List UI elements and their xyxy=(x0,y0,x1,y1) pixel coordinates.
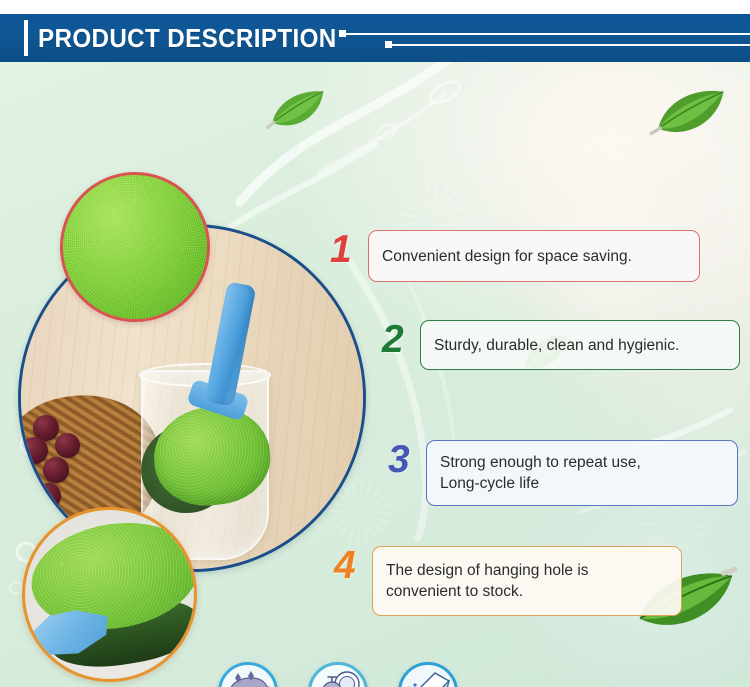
page-title: PRODUCT DESCRIPTION xyxy=(38,21,337,55)
feature-item-1: 1 Convenient design for space saving. xyxy=(330,230,700,282)
surface-scrubbing-icon[interactable] xyxy=(218,662,278,687)
green-fiber-surface xyxy=(63,175,207,319)
header-decor-line-2 xyxy=(392,44,750,46)
feature-item-2: 2 Sturdy, durable, clean and hygienic. xyxy=(382,320,740,370)
feature-number-1: 1 xyxy=(330,230,368,269)
feature-box-1[interactable]: Convenient design for space saving. xyxy=(368,230,700,282)
feature-text-4: The design of hanging hole is convenient… xyxy=(386,560,589,602)
scouring-pad-closeup-photo[interactable] xyxy=(60,172,210,322)
product-description-page: PRODUCT DESCRIPTION xyxy=(0,0,750,687)
feature-item-4: 4 The design of hanging hole is convenie… xyxy=(334,546,682,616)
feature-number-4: 4 xyxy=(334,546,372,585)
feature-box-3[interactable]: Strong enough to repeat use, Long-cycle … xyxy=(426,440,738,506)
feature-number-3: 3 xyxy=(388,440,426,479)
top-white-margin xyxy=(0,0,750,14)
content-stage: 1 Convenient design for space saving. 2 … xyxy=(0,62,750,687)
feature-box-2[interactable]: Sturdy, durable, clean and hygienic. xyxy=(420,320,740,370)
header-bar: PRODUCT DESCRIPTION xyxy=(0,14,750,62)
leaf-top-center-icon xyxy=(262,84,336,138)
header-accent-bar xyxy=(24,20,28,56)
dishwashing-icon[interactable] xyxy=(308,662,368,687)
header-decor-line-1 xyxy=(346,33,750,35)
sponge-clip-closeup-photo[interactable] xyxy=(22,507,197,682)
sponge-bubbles-icon[interactable] xyxy=(398,662,458,687)
feature-text-3: Strong enough to repeat use, Long-cycle … xyxy=(440,452,641,494)
header-line-dot-2 xyxy=(385,41,392,48)
feature-number-2: 2 xyxy=(382,320,420,359)
feature-text-1: Convenient design for space saving. xyxy=(382,246,632,267)
feature-item-3: 3 Strong enough to repeat use, Long-cycl… xyxy=(388,440,738,506)
feature-box-4[interactable]: The design of hanging hole is convenient… xyxy=(372,546,682,616)
feature-text-2: Sturdy, durable, clean and hygienic. xyxy=(434,335,679,356)
header-line-dot-1 xyxy=(339,30,346,37)
